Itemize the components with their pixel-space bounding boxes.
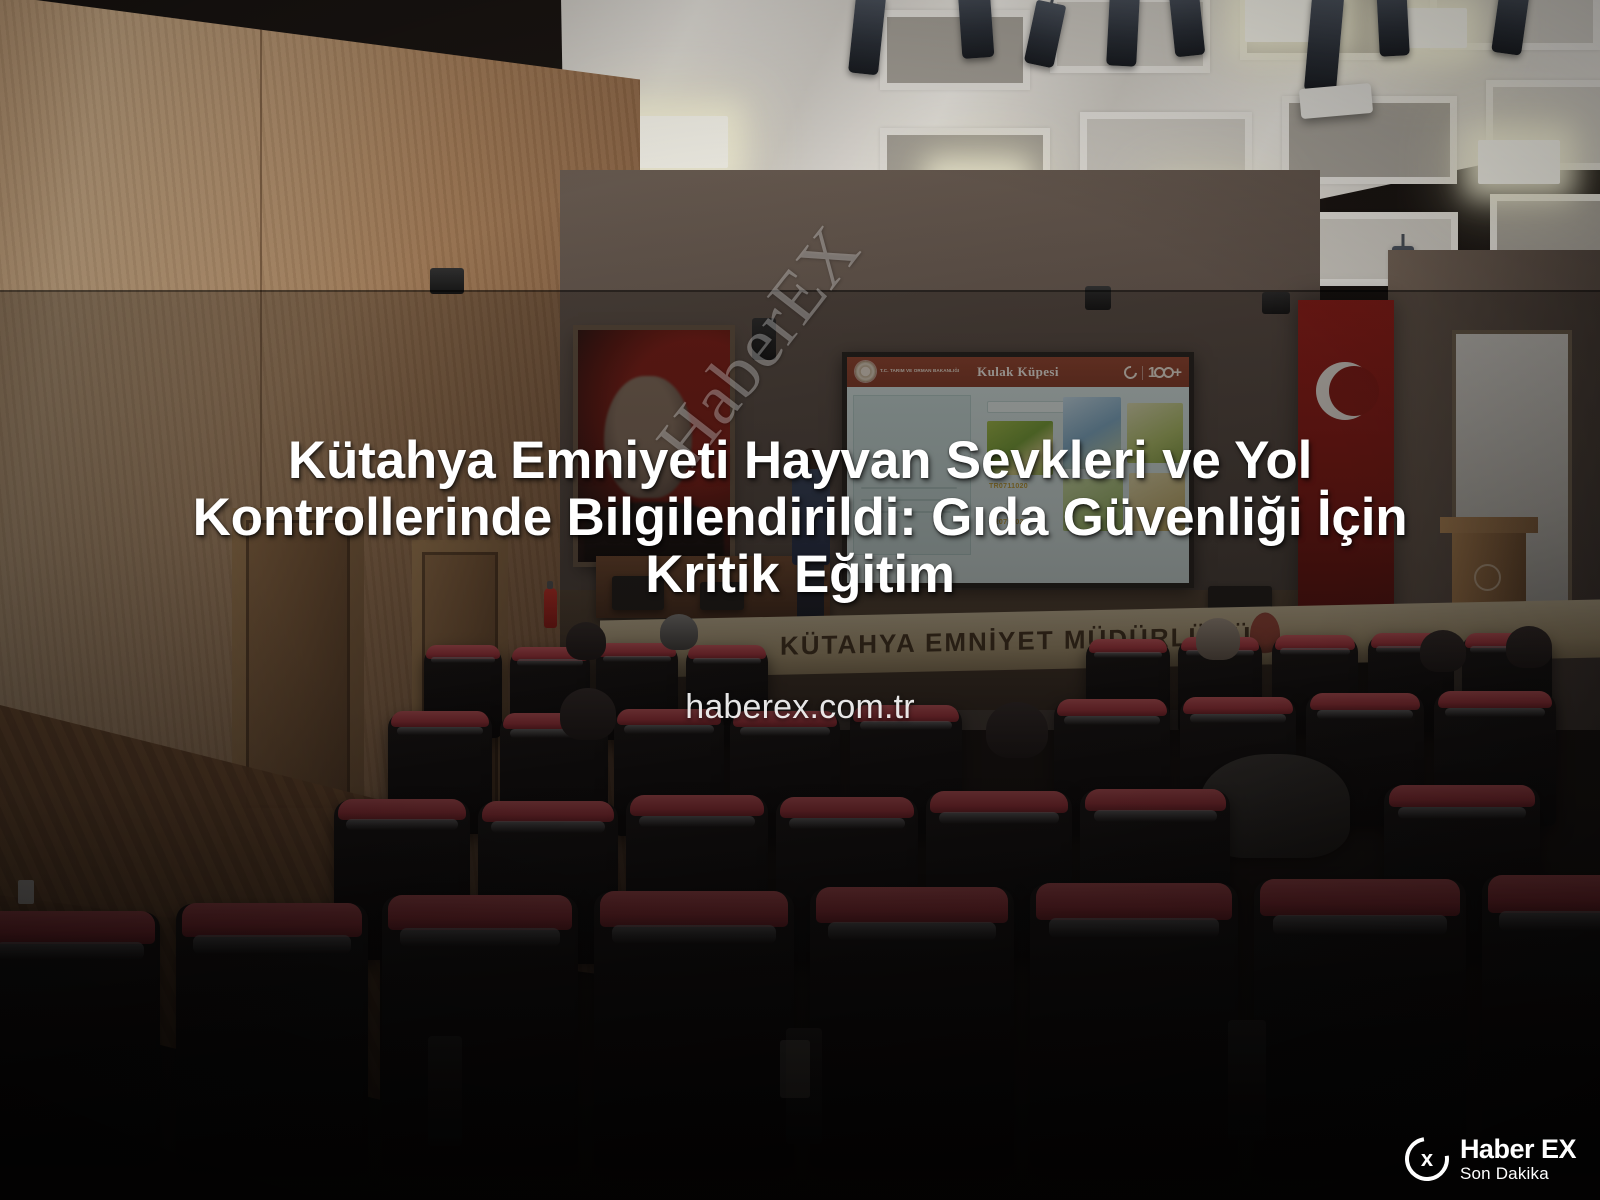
seat [0,912,160,1162]
page-title: Kütahya Emniyeti Hayvan Sevkleri ve Yol … [150,432,1450,604]
ministry-logo: T.C. TARIM VE ORMAN BAKANLIĞI [855,361,959,382]
ministry-label: T.C. TARIM VE ORMAN BAKANLIĞI [880,368,959,374]
seat [382,896,578,1166]
logo-divider [1142,366,1143,380]
attendee [1196,618,1240,660]
stage-spotlight [1169,0,1206,57]
hanging-speaker [1262,292,1290,314]
wall-socket [18,880,34,904]
seat [1254,880,1466,1168]
lectern-emblem-icon [1474,564,1501,591]
slide-header: T.C. TARIM VE ORMAN BAKANLIĞI Kulak Küpe… [847,357,1189,387]
logo-x-glyph: x [1421,1148,1433,1170]
seat [1482,876,1600,1168]
brand-name: Haber EX [1460,1136,1576,1163]
attendee [566,622,606,660]
crescent-icon [1316,362,1374,420]
screenshot-root: T.C. TARIM VE ORMAN BAKANLIĞI Kulak Küpe… [0,0,1600,1200]
brand-wordmark: Haber EX Son Dakika [1460,1136,1576,1182]
ceiling-light [1478,140,1560,184]
republic-badge [1124,366,1137,379]
slide-title: Kulak Küpesi [977,364,1059,380]
slide-search-field [987,401,1065,413]
stage-spotlight [1376,0,1410,57]
ceiling-coffer [880,10,1030,90]
seat [1030,884,1238,1168]
brand-tagline: Son Dakika [1460,1165,1576,1182]
anniversary-logos: 1+ [1124,364,1181,381]
zero-ring-icon [1163,367,1174,378]
seat [594,892,794,1168]
seat [810,888,1014,1168]
seat-writing-tablet [780,1040,810,1098]
stage-spotlight [1106,0,1140,67]
crescent-ring-icon [1121,363,1139,381]
brand-logo[interactable]: x Haber EX Son Dakika [1405,1136,1576,1182]
anniversary-badge: 1+ [1148,364,1181,381]
stage-spotlight [958,0,995,59]
seat-armrest [1228,1020,1266,1140]
ceiling-projector [1299,83,1373,119]
seat [176,904,368,1166]
circle-x-icon: x [1405,1137,1449,1181]
attendee [1420,630,1466,672]
attendee [1506,626,1552,668]
attendee [660,614,698,650]
ministry-seal-icon [855,361,876,382]
seat-armrest [428,1036,462,1146]
site-url-watermark: haberex.com.tr [0,688,1600,727]
